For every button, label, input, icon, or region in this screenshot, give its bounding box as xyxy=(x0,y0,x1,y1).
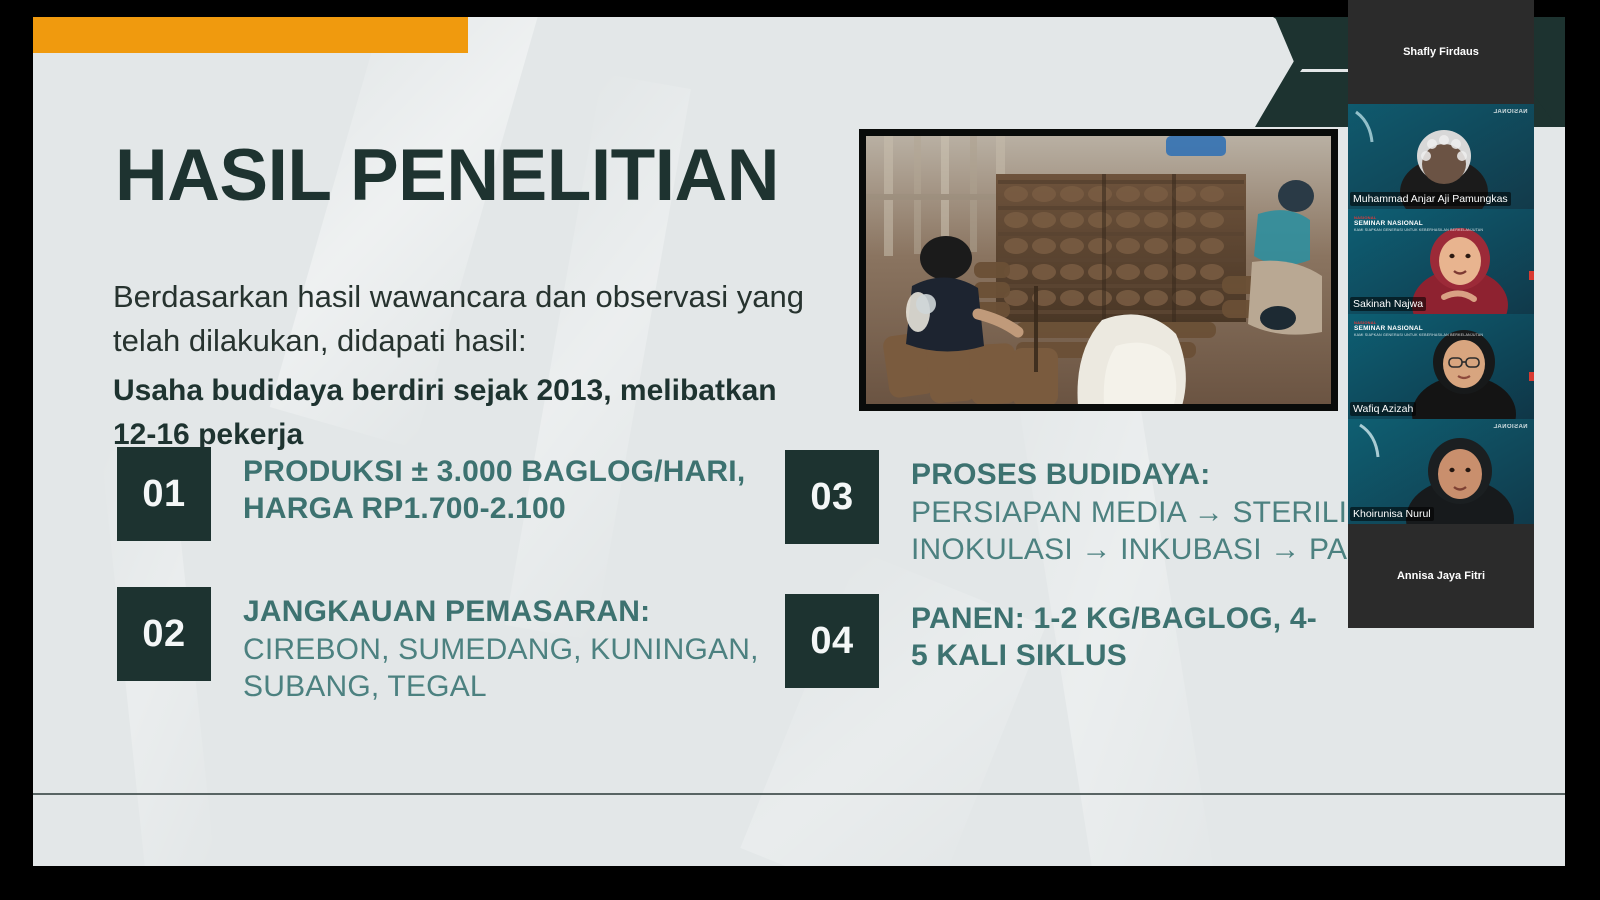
participant-name: Wafiq Azizah xyxy=(1350,402,1416,416)
participant-name: Muhammad Anjar Aji Pamungkas xyxy=(1350,192,1511,206)
item-number-badge: 02 xyxy=(117,587,211,681)
participant-tile[interactable]: Shafly Firdaus xyxy=(1348,0,1534,104)
participant-tile[interactable]: NASIONAL SEMINAR NASIONAL KAMI SIAPKAN G… xyxy=(1348,314,1534,419)
backdrop-banner-main: SEMINAR NASIONAL xyxy=(1354,325,1423,332)
screen-share-view: HASIL PENELITIAN Berdasarkan hasil wawan… xyxy=(0,0,1600,900)
participant-tile[interactable]: NASIONAL SEMINAR NASIONAL KAMI SIAPKAN G… xyxy=(1348,209,1534,314)
list-item: 01 PRODUKSI ± 3.000 BAGLOG/HARI, HARGA R… xyxy=(117,447,745,541)
item-detail: CIREBON, SUMEDANG, KUNINGAN, SUBANG, TEG… xyxy=(243,631,759,705)
participant-tile[interactable]: Annisa Jaya Fitri xyxy=(1348,524,1534,628)
participant-tile[interactable]: NASIONAL Muhammad Anjar Aji Pamungkas xyxy=(1348,104,1534,209)
page-title: HASIL PENELITIAN xyxy=(115,139,779,212)
item-heading: PRODUKSI ± 3.000 BAGLOG/HARI, HARGA RP1.… xyxy=(243,454,745,527)
participant-tile[interactable]: NASIONAL Khoirunisa Nurul xyxy=(1348,419,1534,524)
footer-divider xyxy=(33,793,1565,795)
backdrop-banner: NASIONAL SEMINAR NASIONAL KAMI SIAPKAN G… xyxy=(1354,215,1483,233)
slide-lead-statement: Usaha budidaya berdiri sejak 2013, melib… xyxy=(113,369,813,457)
item-number-badge: 03 xyxy=(785,450,879,544)
baglog-photo xyxy=(859,129,1338,411)
slide-subtitle: Berdasarkan hasil wawancara dan observas… xyxy=(113,275,813,363)
participant-name: Khoirunisa Nurul xyxy=(1350,507,1434,521)
participant-name: Shafly Firdaus xyxy=(1403,46,1479,58)
presentation-slide: HASIL PENELITIAN Berdasarkan hasil wawan… xyxy=(33,17,1565,866)
participant-filmstrip[interactable]: Shafly Firdaus NASIONAL xyxy=(1348,0,1534,628)
list-item: 02 JANGKAUAN PEMASARAN: CIREBON, SUMEDAN… xyxy=(117,587,759,705)
backdrop-banner: NASIONAL SEMINAR NASIONAL KAMI SIAPKAN G… xyxy=(1354,320,1483,338)
backdrop-banner-text: NASIONAL xyxy=(1493,109,1528,115)
red-accent-strip xyxy=(1529,372,1534,381)
participant-name: Sakinah Najwa xyxy=(1350,297,1426,311)
backdrop-banner-text: NASIONAL xyxy=(1493,424,1528,430)
red-accent-strip xyxy=(1529,271,1534,280)
orange-accent-bar xyxy=(33,17,468,53)
backdrop-banner-sub: KAMI SIAPKAN GENERASI UNTUK KEBERHASILAN… xyxy=(1354,333,1483,337)
participant-name: Annisa Jaya Fitri xyxy=(1397,570,1485,582)
item-number-badge: 04 xyxy=(785,594,879,688)
item-number-badge: 01 xyxy=(117,447,211,541)
backdrop-banner-sub: KAMI SIAPKAN GENERASI UNTUK KEBERHASILAN… xyxy=(1354,228,1483,232)
backdrop-banner-main: SEMINAR NASIONAL xyxy=(1354,220,1423,227)
item-heading: JANGKAUAN PEMASARAN: xyxy=(243,594,759,631)
